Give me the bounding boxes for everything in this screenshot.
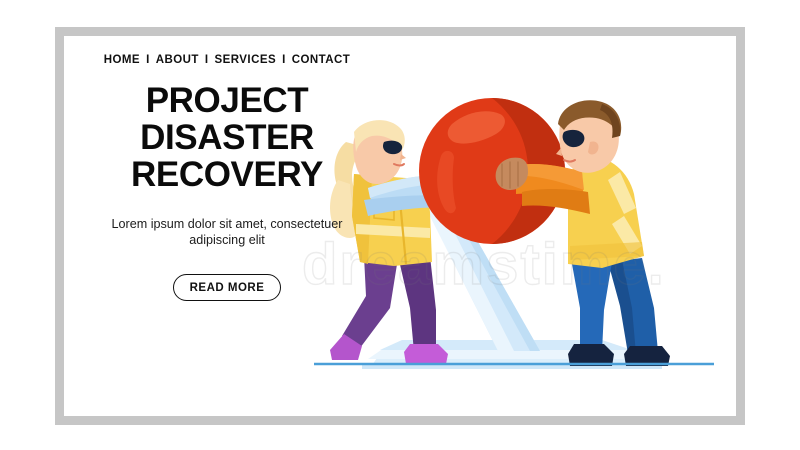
nav-item-about[interactable]: ABOUT bbox=[156, 54, 199, 66]
headline-line-1: PROJECT bbox=[82, 82, 372, 119]
read-more-button[interactable]: READ MORE bbox=[173, 274, 282, 301]
cta-row: READ MORE bbox=[82, 274, 372, 301]
hero-subtitle: Lorem ipsum dolor sit amet, consectetuer… bbox=[82, 216, 372, 248]
banner-content: dreamstime. HOME I ABOUT I SERVICES I CO… bbox=[64, 36, 736, 416]
nav-item-home[interactable]: HOME bbox=[104, 54, 140, 66]
headline-line-2: DISASTER bbox=[82, 119, 372, 156]
main-nav: HOME I ABOUT I SERVICES I CONTACT bbox=[82, 54, 372, 66]
hero-text-column: HOME I ABOUT I SERVICES I CONTACT PROJEC… bbox=[82, 54, 372, 301]
nav-separator: I bbox=[282, 54, 286, 66]
nav-item-services[interactable]: SERVICES bbox=[215, 54, 277, 66]
page-title: PROJECT DISASTER RECOVERY bbox=[82, 82, 372, 193]
nav-item-contact[interactable]: CONTACT bbox=[292, 54, 351, 66]
nav-separator: I bbox=[146, 54, 150, 66]
nav-separator: I bbox=[205, 54, 209, 66]
headline-line-3: RECOVERY bbox=[82, 156, 372, 193]
banner-frame: dreamstime. HOME I ABOUT I SERVICES I CO… bbox=[55, 27, 745, 425]
